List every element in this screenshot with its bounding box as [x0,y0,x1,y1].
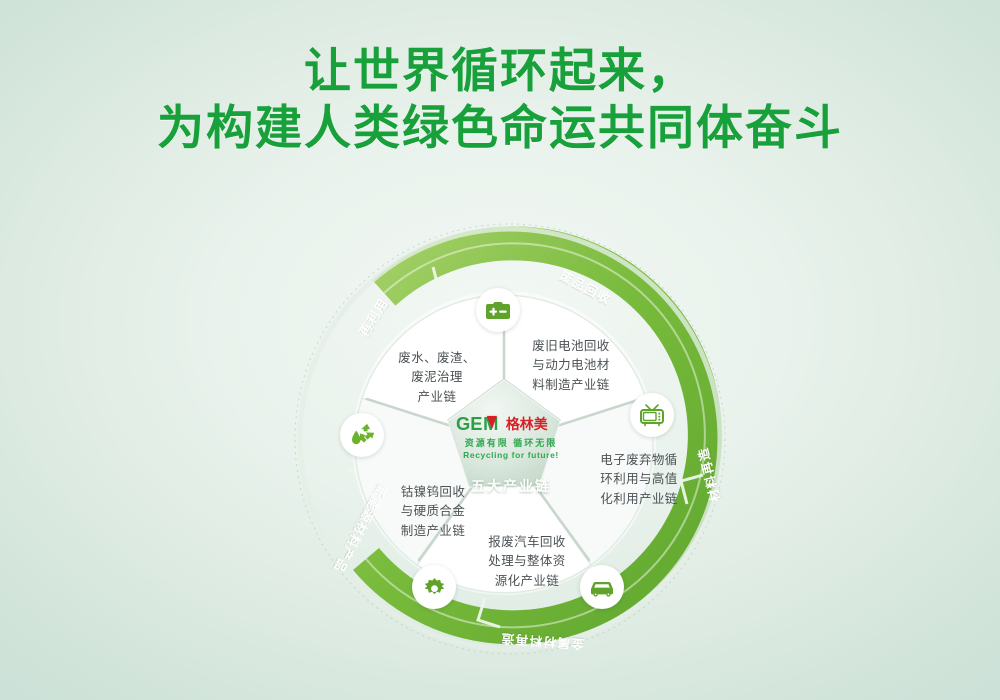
title-line-2: 为构建人类绿色命运共同体奋斗 [0,99,1000,156]
car-icon [588,576,616,598]
car-icon-bubble [580,565,624,609]
water-recycle-icon-bubble [340,413,384,457]
poster-stage: 让世界循环起来， 为构建人类绿色命运共同体奋斗 [0,0,1000,700]
center-heading: 五大产业链 [448,476,574,496]
water-recycle-icon [348,422,376,448]
chain-line: 化利用产业链 [584,490,694,509]
chain-text-waste-water-slag-sludge: 废水、废渣、 废泥治理 产业链 [382,349,492,407]
chain-line: 源化产业链 [472,572,582,591]
chain-line: 废旧电池回收 [516,337,626,356]
center-logo-block: GE M 格林美 资源有限 循环无限 Recycling for future!… [448,411,574,529]
battery-icon [485,299,511,321]
chain-line: 电子废弃物循 [584,451,694,470]
chain-line: 报废汽车回收 [472,533,582,552]
chain-text-waste-battery: 废旧电池回收 与动力电池材 料制造产业链 [516,337,626,395]
circular-economy-diagram: 废品回收 再利用 材料再造 金属材料再造 新能源材料产品 废旧电池回收 与动力电… [300,215,720,665]
gear-icon-bubble [412,565,456,609]
battery-icon-bubble [476,288,520,332]
chain-line: 与动力电池材 [516,356,626,375]
gear-icon [422,575,447,600]
television-icon [639,402,665,428]
svg-text:GE: GE [456,413,482,434]
television-icon-bubble [630,393,674,437]
chain-line: 处理与整体资 [472,552,582,571]
title-line-1: 让世界循环起来， [0,42,1000,99]
page-title: 让世界循环起来， 为构建人类绿色命运共同体奋斗 [0,42,1000,157]
chain-text-end-of-life-vehicle: 报废汽车回收 处理与整体资 源化产业链 [472,533,582,591]
svg-text:格林美: 格林美 [506,416,548,432]
chain-line: 废泥治理 [382,368,492,387]
gem-wordmark-logo: GE M 格林美 [456,413,566,435]
chain-line: 产业链 [382,388,492,407]
brand-slogan-cn: 资源有限 循环无限 [448,436,574,449]
brand-slogan-en: Recycling for future! [448,450,574,460]
chain-line: 料制造产业链 [516,376,626,395]
chain-text-e-waste: 电子废弃物循 环利用与高值 化利用产业链 [584,451,694,509]
chain-line: 环利用与高值 [584,470,694,489]
chain-line: 废水、废渣、 [382,349,492,368]
